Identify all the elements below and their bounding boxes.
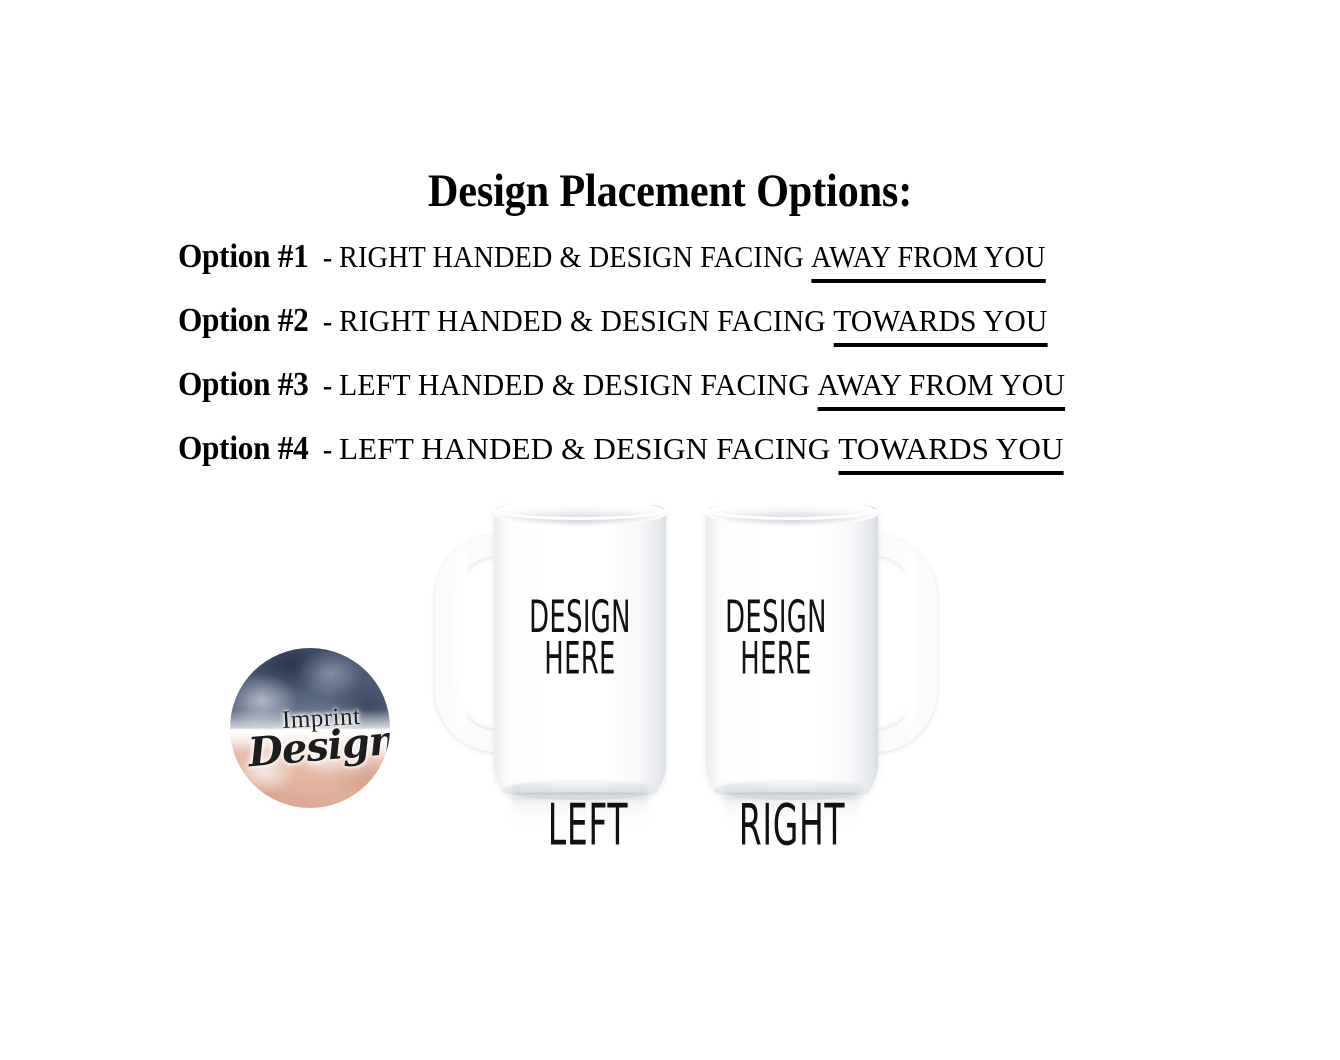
option-4-text: LEFT HANDED & DESIGN FACING (339, 431, 838, 466)
design-placement-options-graphic: Design Placement Options: Option #1 - RI… (0, 0, 1340, 1060)
option-1-description: RIGHT HANDED & DESIGN FACING AWAY FROM Y… (339, 241, 1046, 272)
option-3-label: Option #3 (178, 368, 308, 402)
option-row-2: Option #2 - RIGHT HANDED & DESIGN FACING… (178, 304, 1163, 368)
brand-logo: Imprint Designs (230, 648, 390, 808)
mug-right-rim-lip (704, 498, 880, 520)
option-row-1: Option #1 - RIGHT HANDED & DESIGN FACING… (178, 240, 1163, 304)
option-2-text: RIGHT HANDED & DESIGN FACING (339, 303, 833, 338)
option-2-description: RIGHT HANDED & DESIGN FACING TOWARDS YOU (339, 305, 1047, 336)
mug-right-design-area: DESIGN HERE (718, 597, 835, 680)
option-4-emphasis: TOWARDS YOU (838, 433, 1063, 464)
mug-left-design-line-2: HERE (522, 638, 639, 679)
mug-right-gloss (902, 521, 918, 756)
mug-left-gloss (454, 521, 470, 756)
option-1-text: RIGHT HANDED & DESIGN FACING (339, 239, 811, 274)
mug-right: DESIGN HERE (690, 505, 940, 805)
option-1-emphasis: AWAY FROM YOU (811, 241, 1046, 272)
mug-left: DESIGN HERE (432, 505, 682, 805)
option-row-3: Option #3 - LEFT HANDED & DESIGN FACING … (178, 368, 1163, 432)
logo-wordmark-designs: Designs (247, 719, 390, 774)
option-1-dash: - (320, 245, 339, 273)
logo-disc: Imprint Designs (230, 648, 390, 808)
option-2-label: Option #2 (178, 304, 308, 338)
option-4-description: LEFT HANDED & DESIGN FACING TOWARDS YOU (339, 433, 1064, 464)
mug-right-caption: RIGHT (706, 797, 878, 854)
option-3-dash: - (320, 373, 339, 401)
mug-left-caption: LEFT (502, 797, 674, 854)
option-row-4: Option #4 - LEFT HANDED & DESIGN FACING … (178, 432, 1163, 496)
option-2-emphasis: TOWARDS YOU (833, 305, 1047, 336)
mug-left-rim-lip (492, 498, 668, 520)
option-4-label: Option #4 (178, 432, 308, 466)
options-list: Option #1 - RIGHT HANDED & DESIGN FACING… (178, 240, 1163, 496)
option-3-emphasis: AWAY FROM YOU (818, 369, 1066, 400)
option-1-label: Option #1 (178, 240, 308, 274)
option-3-description: LEFT HANDED & DESIGN FACING AWAY FROM YO… (339, 369, 1065, 400)
option-4-dash: - (320, 437, 339, 465)
mug-right-design-line-2: HERE (718, 638, 835, 679)
mug-left-design-area: DESIGN HERE (522, 597, 639, 680)
page-title: Design Placement Options: (67, 168, 1273, 215)
option-2-dash: - (320, 309, 339, 337)
option-3-text: LEFT HANDED & DESIGN FACING (339, 367, 817, 402)
